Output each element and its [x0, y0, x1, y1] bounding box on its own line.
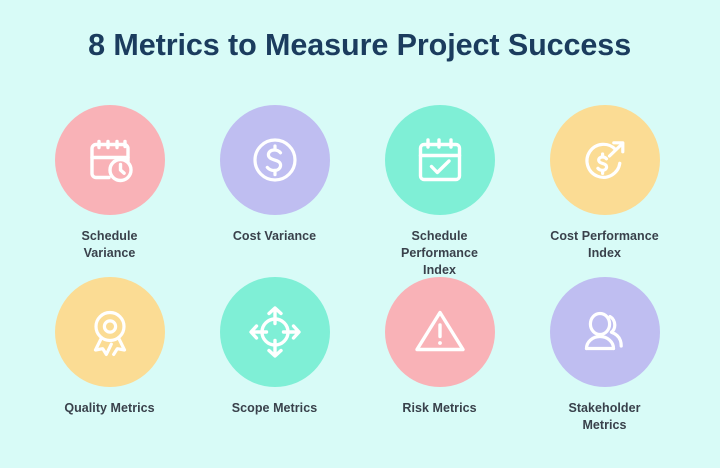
calendar-clock-icon	[81, 131, 139, 189]
metric-bubble-risk-metrics	[385, 277, 495, 387]
users-group-icon	[576, 303, 634, 361]
metric-card-stakeholder-metrics[interactable]: Stakeholder Metrics	[522, 277, 687, 434]
warning-triangle-icon	[411, 303, 469, 361]
metric-card-risk-metrics[interactable]: Risk Metrics	[357, 277, 522, 434]
metric-label-schedule-variance: Schedule Variance	[35, 228, 185, 262]
metric-card-cost-performance-index[interactable]: Cost Performance Index	[522, 105, 687, 279]
page-title: 8 Metrics to Measure Project Success	[89, 26, 632, 64]
metric-card-cost-variance[interactable]: Cost Variance	[192, 105, 357, 279]
title-container: 8 Metrics to Measure Project Success	[0, 26, 720, 64]
award-ribbon-icon	[81, 303, 139, 361]
metric-bubble-quality-metrics	[55, 277, 165, 387]
dollar-growth-arrow-icon	[576, 131, 634, 189]
metric-bubble-schedule-variance	[55, 105, 165, 215]
metric-label-quality-metrics: Quality Metrics	[35, 400, 185, 417]
metric-card-quality-metrics[interactable]: Quality Metrics	[27, 277, 192, 434]
metric-label-stakeholder-metrics: Stakeholder Metrics	[530, 400, 680, 434]
metric-card-schedule-performance-index[interactable]: Schedule Performance Index	[357, 105, 522, 279]
infographic-canvas: 8 Metrics to Measure Project Success	[0, 0, 720, 468]
metric-label-risk-metrics: Risk Metrics	[365, 400, 515, 417]
metrics-grid: Schedule Variance Cost Varian	[0, 105, 720, 460]
dollar-circle-icon	[246, 131, 304, 189]
metric-bubble-scope-metrics	[220, 277, 330, 387]
metric-label-cost-performance-index: Cost Performance Index	[525, 228, 685, 262]
calendar-check-icon	[412, 132, 468, 188]
metrics-row-2: Quality Metrics	[0, 277, 720, 434]
crosshair-target-icon	[247, 304, 303, 360]
metric-bubble-cost-performance-index	[550, 105, 660, 215]
metric-label-cost-variance: Cost Variance	[200, 228, 350, 245]
metric-label-scope-metrics: Scope Metrics	[200, 400, 350, 417]
metric-label-schedule-performance-index: Schedule Performance Index	[365, 228, 515, 279]
metric-bubble-schedule-performance-index	[385, 105, 495, 215]
metric-bubble-cost-variance	[220, 105, 330, 215]
metric-card-scope-metrics[interactable]: Scope Metrics	[192, 277, 357, 434]
metric-bubble-stakeholder-metrics	[550, 277, 660, 387]
metric-card-schedule-variance[interactable]: Schedule Variance	[27, 105, 192, 279]
metrics-row-1: Schedule Variance Cost Varian	[0, 105, 720, 279]
